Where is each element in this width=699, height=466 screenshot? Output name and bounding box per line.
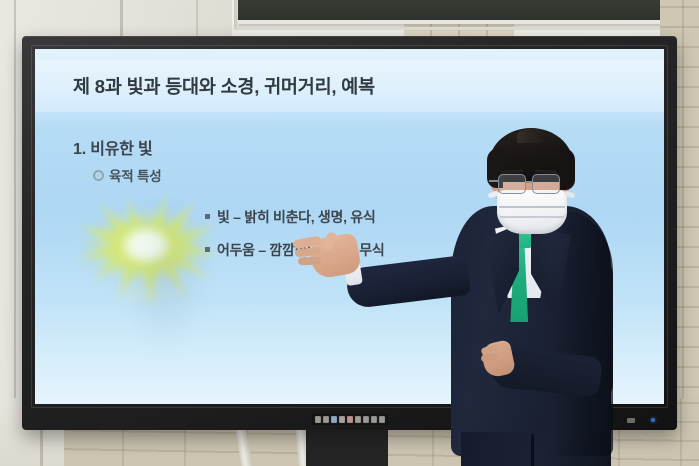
chalkboard-frame (234, 0, 682, 30)
presenter (355, 120, 655, 466)
glasses-lens-left (498, 174, 526, 194)
display-button[interactable] (331, 416, 337, 423)
glasses-bridge (526, 181, 533, 183)
jacket-shading (551, 212, 613, 456)
bullet-text: 빛 – 밝히 비춘다, 생명, 유식 (217, 207, 375, 227)
hair-side-right (559, 148, 575, 190)
display-button[interactable] (339, 416, 345, 423)
display-button[interactable] (347, 416, 353, 423)
display-button[interactable] (323, 416, 329, 423)
slide-title: 제 8과 빛과 등대와 소경, 귀머거리, 예복 (73, 73, 375, 99)
face-mask-fold (499, 206, 565, 208)
wall-moulding-line (14, 0, 16, 466)
face-mask-fold (500, 216, 564, 218)
display-button[interactable] (315, 416, 321, 423)
slide-heading: 1. 비유한 빛 (73, 135, 153, 159)
double-circle-bullet-icon (93, 170, 104, 181)
glasses-temple (489, 180, 499, 182)
presenter-shadow-on-screen (105, 159, 225, 389)
trouser-seam (531, 434, 534, 466)
finger (298, 257, 321, 266)
glasses-lens-right (532, 174, 560, 194)
hair-part (517, 129, 547, 143)
face-mask (497, 190, 567, 234)
